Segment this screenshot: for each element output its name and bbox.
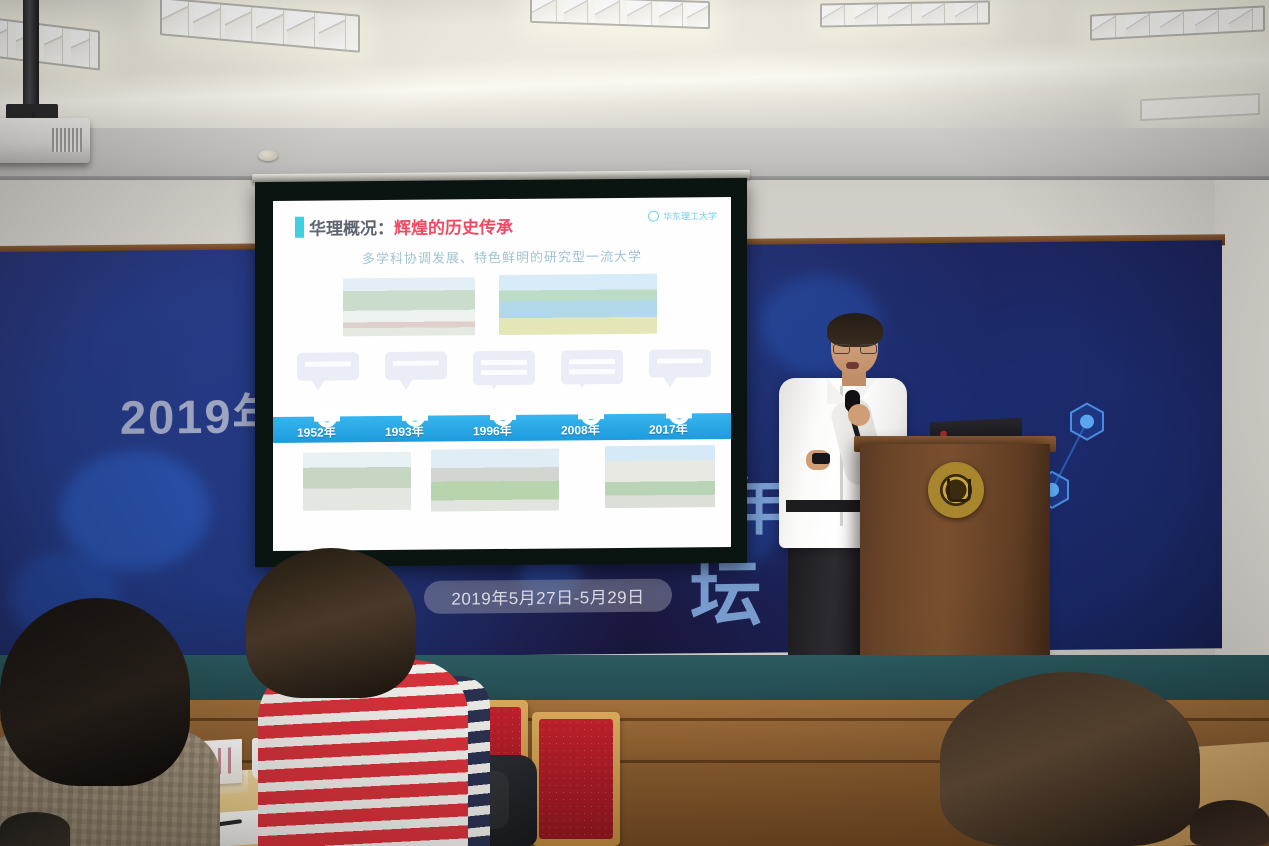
university-logo: 华东理工大学 xyxy=(648,209,717,223)
speaker-mouth xyxy=(846,362,859,369)
timeline-year: 1996年 xyxy=(473,422,512,439)
timeline-year: 1993年 xyxy=(385,423,424,440)
slide-photo-campus-building xyxy=(431,448,559,511)
ceiling-light-panel xyxy=(0,13,100,70)
event-date-badge: 2019年5月27日-5月29日 xyxy=(424,579,672,614)
right-wall xyxy=(1215,180,1269,680)
ceiling-projector xyxy=(0,118,90,163)
slide-title-prefix: 华理概况： xyxy=(309,219,394,239)
speaker-hand xyxy=(848,404,870,426)
attendee-bottom-left-head xyxy=(0,812,70,846)
timeline-callout-bubble xyxy=(297,352,359,381)
projector-mount-pole xyxy=(23,0,39,108)
slide-title: 华理概况：辉煌的历史传承 xyxy=(309,213,513,240)
logo-ring-icon xyxy=(648,211,659,222)
ceiling-light-panel xyxy=(820,1,990,28)
slide-photo-campus-gate xyxy=(343,277,475,336)
timeline-callout-bubble xyxy=(649,349,711,378)
eyeglasses-icon xyxy=(833,344,877,354)
slide-title-highlight: 辉煌的历史传承 xyxy=(394,218,513,238)
timeline-year: 1952年 xyxy=(297,423,336,440)
smoke-detector-icon xyxy=(258,150,278,161)
slide-subtitle: 多学科协调发展、特色鲜明的研究型一流大学 xyxy=(273,245,731,268)
university-emblem-icon xyxy=(928,462,984,518)
logo-text: 华东理工大学 xyxy=(663,209,717,222)
projection-screen: 华理概况：辉煌的历史传承 华东理工大学 多学科协调发展、特色鲜明的研究型一流大学 xyxy=(255,178,747,567)
attendee-woman-hair xyxy=(0,598,190,786)
projector-vent-icon xyxy=(52,128,82,152)
slide-photo-campus-lake xyxy=(499,274,657,335)
ceiling-light-panel xyxy=(530,0,710,29)
speaker-hair xyxy=(827,313,883,347)
presentation-clicker[interactable] xyxy=(812,453,830,464)
attendee-right-foreground-head xyxy=(940,672,1200,846)
timeline-year: 2008年 xyxy=(561,421,600,438)
slide-title-accent-bar xyxy=(295,217,304,238)
attendee-far-right-head xyxy=(1190,800,1269,846)
slide-photo-campus-entrance xyxy=(605,445,715,508)
ceiling-light-panel xyxy=(1090,5,1265,40)
auditorium-chair[interactable] xyxy=(532,712,620,846)
ceiling-light-panel xyxy=(1140,93,1260,121)
timeline-callout-bubble xyxy=(385,351,447,380)
timeline-callout-bubble xyxy=(561,350,623,385)
presentation-slide: 华理概况：辉煌的历史传承 华东理工大学 多学科协调发展、特色鲜明的研究型一流大学 xyxy=(273,197,731,551)
ceiling-light-panel xyxy=(160,0,360,53)
attendee-man-hair xyxy=(246,548,416,698)
slide-photo-campus-street xyxy=(303,452,411,511)
lecture-hall-scene: 2019年1 青年 论坛” 坛 2019年5月27日-5月29日 华理概况：辉煌… xyxy=(0,0,1269,846)
ceiling xyxy=(0,0,1269,182)
timeline-year: 2017年 xyxy=(649,420,688,437)
timeline-callout-bubble xyxy=(473,351,535,386)
